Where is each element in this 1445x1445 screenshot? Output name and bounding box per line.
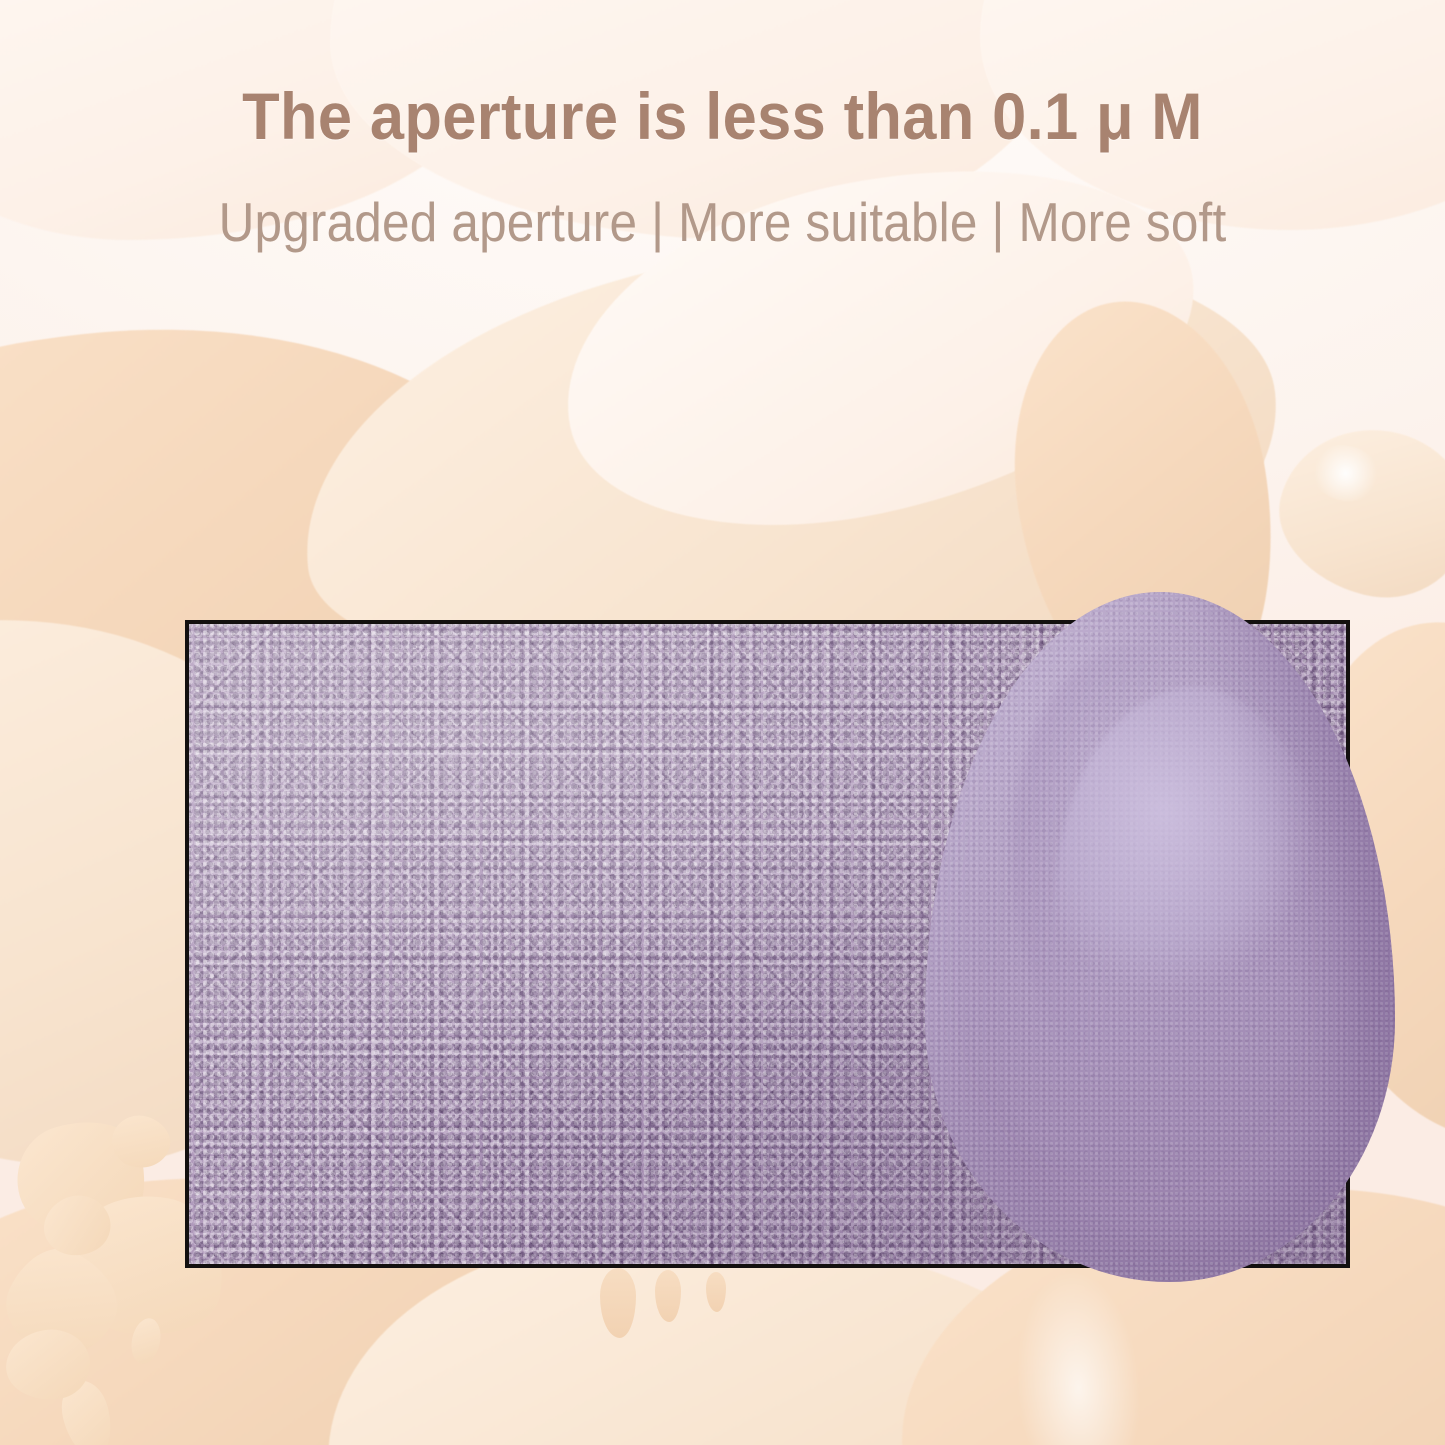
macro-vignette bbox=[189, 624, 1346, 1264]
page-title: The aperture is less than 0.1 μ M bbox=[51, 78, 1395, 154]
product-photo-frame bbox=[185, 620, 1350, 1268]
page-subtitle: Upgraded aperture | More suitable | More… bbox=[72, 190, 1373, 254]
banner-stage: The aperture is less than 0.1 μ M Upgrad… bbox=[0, 0, 1445, 1445]
macro-texture-clip bbox=[189, 624, 1346, 1264]
